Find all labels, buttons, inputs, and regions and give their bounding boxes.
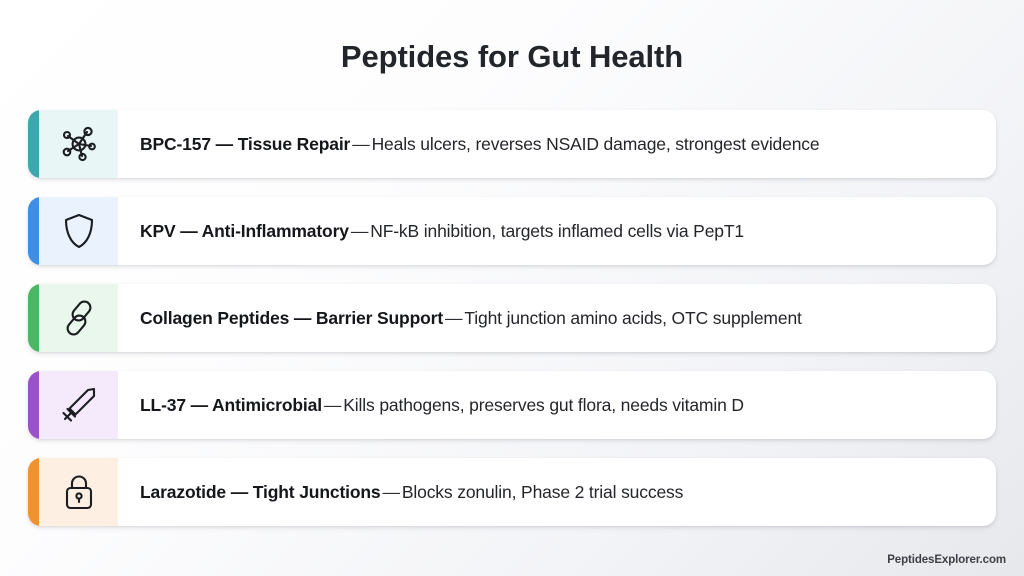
accent-bar	[28, 284, 39, 352]
peptide-card[interactable]: Collagen Peptides — Barrier Support — Ti…	[28, 284, 996, 352]
accent-bar	[28, 110, 39, 178]
icon-tile	[39, 458, 118, 526]
peptide-card-list: BPC-157 — Tissue Repair — Heals ulcers, …	[28, 110, 996, 545]
watermark: PeptidesExplorer.com	[887, 554, 1006, 566]
card-description: Kills pathogens, preserves gut flora, ne…	[343, 395, 744, 416]
icon-tile	[39, 371, 118, 439]
peptide-card[interactable]: BPC-157 — Tissue Repair — Heals ulcers, …	[28, 110, 996, 178]
card-lead: KPV — Anti-Inflammatory	[140, 221, 349, 242]
accent-bar	[28, 197, 39, 265]
icon-tile	[39, 110, 118, 178]
card-separator: —	[443, 308, 464, 329]
card-text: Larazotide — Tight Junctions — Blocks zo…	[118, 458, 996, 526]
card-lead: Larazotide — Tight Junctions	[140, 482, 381, 503]
card-separator: —	[381, 482, 402, 503]
card-description: Tight junction amino acids, OTC suppleme…	[464, 308, 801, 329]
peptide-card[interactable]: KPV — Anti-Inflammatory — NF-kB inhibiti…	[28, 197, 996, 265]
card-text: LL-37 — Antimicrobial — Kills pathogens,…	[118, 371, 996, 439]
card-separator: —	[322, 395, 343, 416]
card-description: Blocks zonulin, Phase 2 trial success	[402, 482, 683, 503]
card-lead: BPC-157 — Tissue Repair	[140, 134, 350, 155]
card-text: KPV — Anti-Inflammatory — NF-kB inhibiti…	[118, 197, 996, 265]
molecule-icon	[59, 124, 99, 164]
card-description: Heals ulcers, reverses NSAID damage, str…	[372, 134, 820, 155]
card-lead: LL-37 — Antimicrobial	[140, 395, 322, 416]
card-text: BPC-157 — Tissue Repair — Heals ulcers, …	[118, 110, 996, 178]
sword-icon	[59, 385, 99, 425]
icon-tile	[39, 197, 118, 265]
accent-bar	[28, 458, 39, 526]
peptide-card[interactable]: Larazotide — Tight Junctions — Blocks zo…	[28, 458, 996, 526]
page-title: Peptides for Gut Health	[0, 39, 1024, 75]
card-text: Collagen Peptides — Barrier Support — Ti…	[118, 284, 996, 352]
card-separator: —	[349, 221, 370, 242]
accent-bar	[28, 371, 39, 439]
card-lead: Collagen Peptides — Barrier Support	[140, 308, 443, 329]
lock-icon	[61, 472, 97, 512]
icon-tile	[39, 284, 118, 352]
peptide-card[interactable]: LL-37 — Antimicrobial — Kills pathogens,…	[28, 371, 996, 439]
card-description: NF-kB inhibition, targets inflamed cells…	[370, 221, 744, 242]
card-separator: —	[350, 134, 371, 155]
slide-root: Peptides for Gut Health	[0, 0, 1024, 576]
link-icon	[59, 298, 99, 338]
shield-icon	[60, 211, 98, 251]
